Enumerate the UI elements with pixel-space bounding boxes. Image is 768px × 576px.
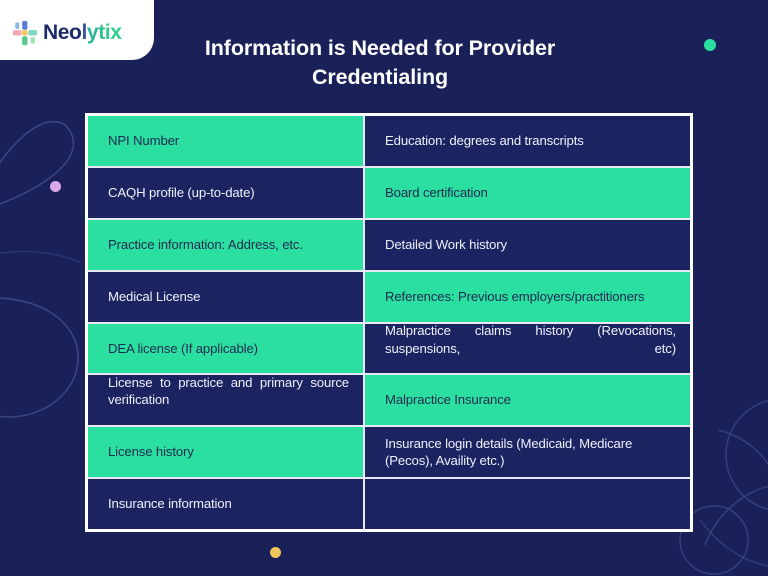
table-cell-left-6: License history bbox=[88, 427, 363, 477]
cell-text: License history bbox=[108, 443, 194, 461]
table-cell-left-0: NPI Number bbox=[88, 116, 363, 166]
table-cell-left-7: Insurance information bbox=[88, 479, 363, 529]
brand-wordmark-part-0: Neo bbox=[43, 21, 81, 44]
table-cell-left-3: Medical License bbox=[88, 272, 363, 322]
table-cell-left-2: Practice information: Address, etc. bbox=[88, 220, 363, 270]
table-cell-right-4: Malpractice claims history (Revocations,… bbox=[365, 324, 690, 374]
brand-wordmark-part-5: x bbox=[110, 21, 121, 44]
table-cell-right-7 bbox=[365, 479, 690, 529]
cell-text: Practice information: Address, etc. bbox=[108, 236, 303, 254]
credentialing-table-grid: NPI Number Education: degrees and transc… bbox=[88, 116, 690, 529]
brand-wordmark-part-2: y bbox=[87, 21, 98, 44]
table-cell-left-4: DEA license (If applicable) bbox=[88, 324, 363, 374]
table-cell-right-1: Board certification bbox=[365, 168, 690, 218]
cell-text: Insurance information bbox=[108, 495, 232, 513]
cell-text: Medical License bbox=[108, 288, 200, 306]
cell-text: Education: degrees and transcripts bbox=[385, 132, 584, 150]
brand-wordmark-part-3: t bbox=[98, 21, 105, 44]
table-cell-right-3: References: Previous employers/practitio… bbox=[365, 272, 690, 322]
pinwheel-logo-icon bbox=[12, 20, 38, 46]
page-title: Information is Needed for Provider Crede… bbox=[168, 34, 592, 91]
cell-text: Detailed Work history bbox=[385, 236, 507, 254]
cell-text: NPI Number bbox=[108, 132, 179, 150]
cell-text: CAQH profile (up-to-date) bbox=[108, 184, 255, 202]
cell-text: References: Previous employers/practitio… bbox=[385, 288, 644, 306]
table-cell-right-6: Insurance login details (Medicaid, Medic… bbox=[365, 427, 690, 477]
cell-text: DEA license (If applicable) bbox=[108, 340, 258, 358]
brand-logo[interactable]: Neolytix bbox=[0, 0, 154, 60]
cell-text: Insurance login details (Medicaid, Medic… bbox=[385, 435, 676, 470]
table-cell-right-0: Education: degrees and transcripts bbox=[365, 116, 690, 166]
table-cell-right-2: Detailed Work history bbox=[365, 220, 690, 270]
slide-canvas: Neolytix Information is Needed for Provi… bbox=[0, 0, 768, 576]
pink-dot bbox=[50, 181, 61, 192]
table-cell-right-5: Malpractice Insurance bbox=[365, 375, 690, 425]
table-cell-left-1: CAQH profile (up-to-date) bbox=[88, 168, 363, 218]
credentialing-table: NPI Number Education: degrees and transc… bbox=[85, 113, 693, 532]
cell-text: Malpractice claims history (Revocations,… bbox=[385, 324, 676, 374]
gold-dot bbox=[270, 547, 281, 558]
table-cell-left-5: License to practice and primary source v… bbox=[88, 375, 363, 425]
brand-wordmark: Neolytix bbox=[43, 21, 122, 45]
cell-text: License to practice and primary source v… bbox=[108, 375, 349, 425]
cell-text: Malpractice Insurance bbox=[385, 391, 511, 409]
green-dot bbox=[704, 39, 716, 51]
cell-text: Board certification bbox=[385, 184, 488, 202]
